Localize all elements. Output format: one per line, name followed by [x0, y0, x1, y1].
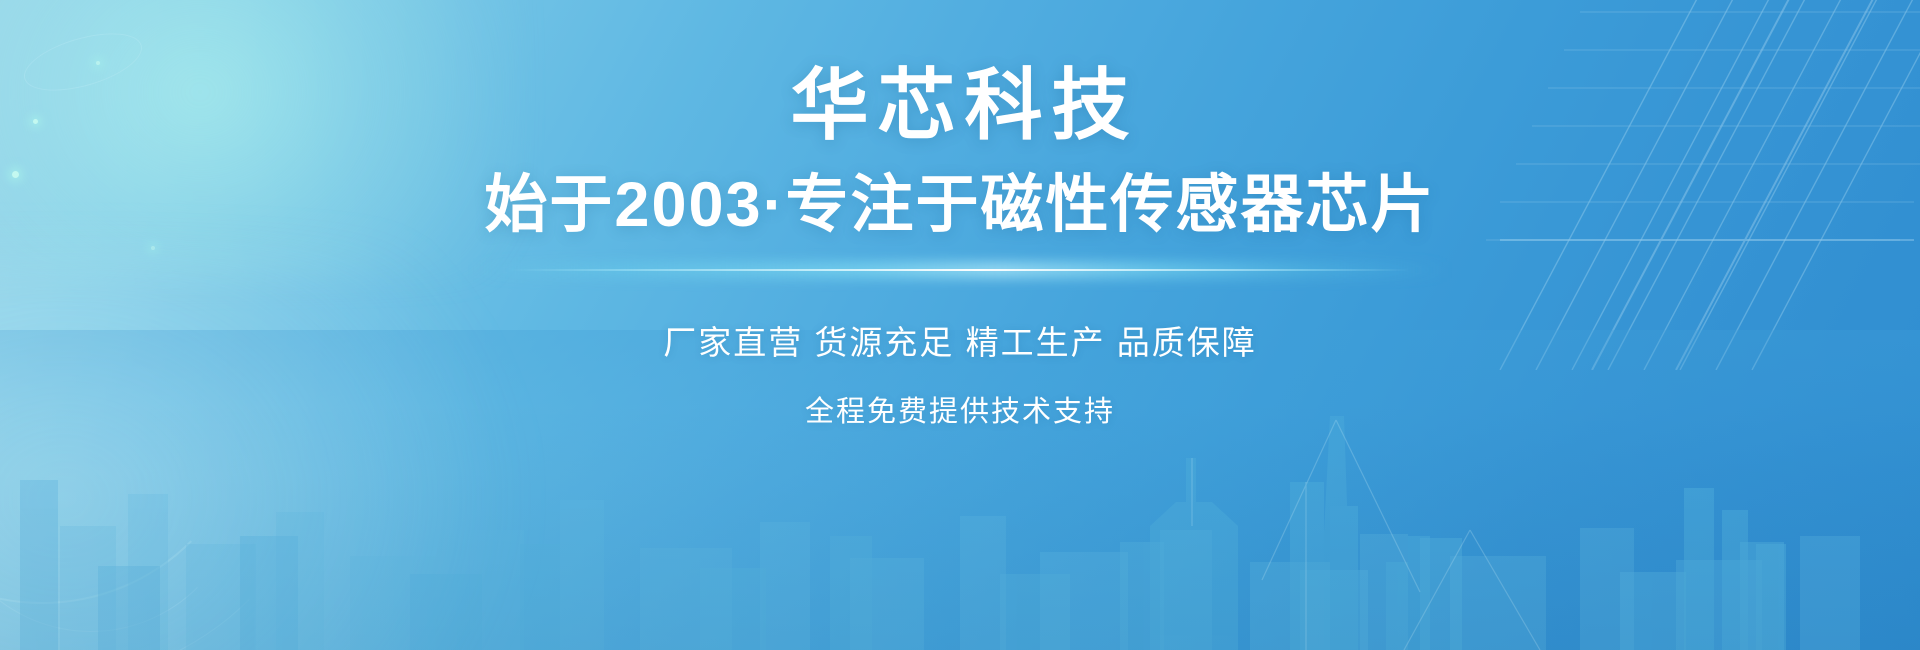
banner-content: 华芯科技 始于2003·专注于磁性传感器芯片 厂家直营 货源充足 精工生产 品质… — [0, 0, 1920, 650]
glow-divider — [510, 260, 1410, 280]
feature-list-text: 厂家直营 货源充足 精工生产 品质保障 — [663, 316, 1257, 364]
glow-divider-line — [510, 269, 1410, 271]
hero-banner: 华芯科技 始于2003·专注于磁性传感器芯片 厂家直营 货源充足 精工生产 品质… — [0, 0, 1920, 650]
tagline-subheading: 始于2003·专注于磁性传感器芯片 — [484, 172, 1435, 238]
company-name-heading: 华芯科技 — [781, 66, 1138, 144]
support-note-text: 全程免费提供技术支持 — [805, 388, 1115, 430]
